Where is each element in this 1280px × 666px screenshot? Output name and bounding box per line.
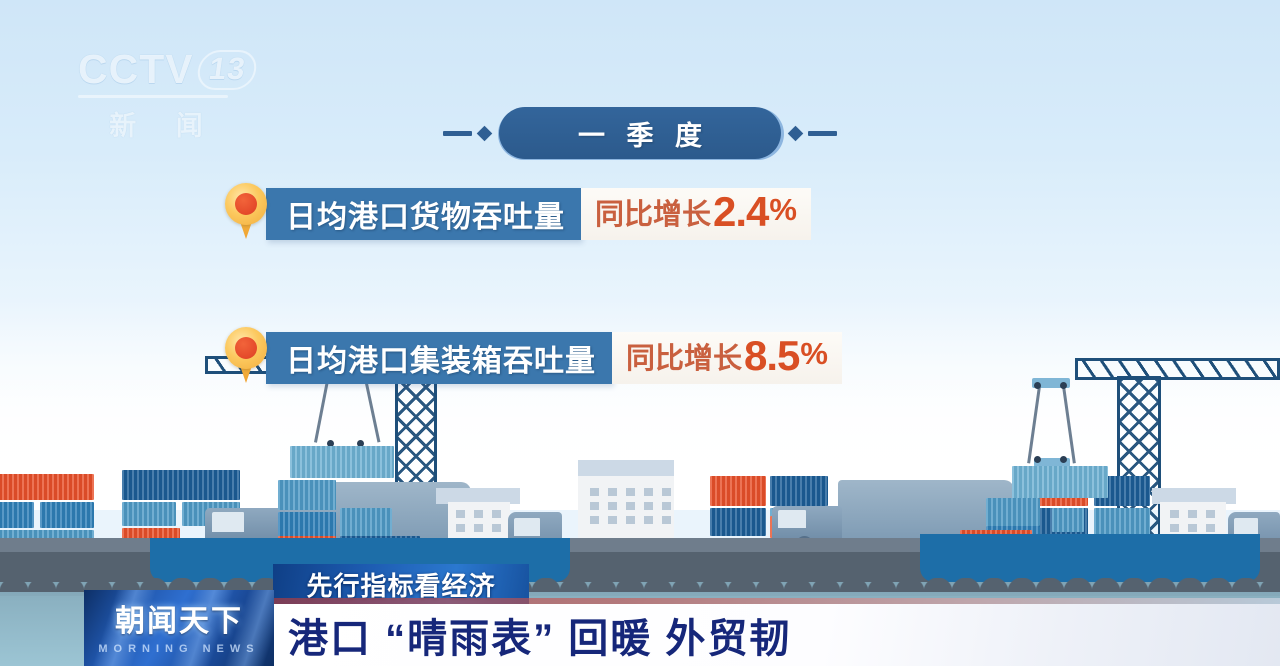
stat-row-cargo-throughput: 日均港口货物吞吐量 同比增长 2.4 % [222,183,811,245]
program-name-cn: 朝闻天下 [84,590,274,640]
forklift-window [514,518,540,536]
infographic-stage: CCTV 13 新 闻 [0,0,1280,666]
dash-icon [808,131,837,136]
container [40,502,94,528]
crane-right-dot-d [1060,456,1067,463]
container [278,512,336,538]
program-logo: 朝闻天下 MORNING NEWS [84,590,274,666]
lower-third: 先行指标看经济 港口 “晴雨表” 回暖 外贸韧 朝闻天下 MORNING NEW… [0,590,1280,666]
stat-value-box: 同比增长 2.4 % [581,188,811,240]
crane-right-cable-b [1062,386,1076,464]
ship-right [920,534,1260,582]
container-lifted [1012,466,1108,498]
container [986,498,1040,526]
topic-text: 先行指标看经济 [306,566,495,603]
stat-value-unit: % [800,336,828,372]
crane-right-dot-b [1060,382,1067,389]
watermark-logo-row: CCTV 13 [78,46,238,93]
container [0,502,34,528]
period-title-group: 一 季 度 [420,102,860,164]
stat-label-box: 日均港口货物吞吐量 [266,188,581,240]
container [1094,508,1150,536]
headline-bar: 港口 “晴雨表” 回暖 外贸韧 [270,604,1280,666]
container [710,508,766,536]
stat-label: 日均港口集装箱吞吐量 [286,336,596,380]
diamond-icon [788,125,804,141]
stat-label: 日均港口货物吞吐量 [286,192,565,236]
watermark-sub-text: 新 闻 [78,104,238,143]
crane-right-cable-a [1027,386,1041,464]
container [122,470,240,500]
container [770,476,828,506]
diamond-icon [477,125,493,141]
stat-row-container-throughput: 日均港口集装箱吞吐量 同比增长 8.5 % [222,327,842,389]
container [340,508,392,536]
stat-label-box: 日均港口集装箱吞吐量 [266,332,612,384]
period-pill: 一 季 度 [499,107,781,159]
stat-value-prefix: 同比增长 [626,335,742,377]
building-windows [590,488,671,524]
stat-value-number: 2.4 [713,188,768,236]
program-name-en: MORNING NEWS [84,643,274,655]
period-title-text: 一 季 度 [571,114,709,153]
dash-icon [443,131,472,136]
watermark-underline [78,95,228,98]
container-lifted [290,446,394,478]
crane-right-boom [1075,358,1280,380]
container [710,476,766,506]
map-pin-icon [222,183,270,245]
stat-value-prefix: 同比增长 [595,191,711,233]
crane-right-dot-a [1034,382,1041,389]
stat-value-box: 同比增长 8.5 % [612,332,842,384]
headline-text: 港口 “晴雨表” 回暖 外贸韧 [288,606,791,664]
container [122,502,176,526]
container [278,480,336,510]
container [1052,508,1084,532]
cctv13-watermark: CCTV 13 新 闻 [78,46,238,140]
crane-right-dot-c [1034,456,1041,463]
stat-value-number: 8.5 [744,332,799,380]
stat-value-unit: % [769,192,797,228]
title-decoration-right [790,128,837,139]
watermark-cctv-text: CCTV [78,46,194,93]
truck-window [778,510,806,528]
truck-window [212,512,244,532]
map-pin-icon [222,327,270,389]
title-decoration-left [443,128,490,139]
container [0,474,94,500]
